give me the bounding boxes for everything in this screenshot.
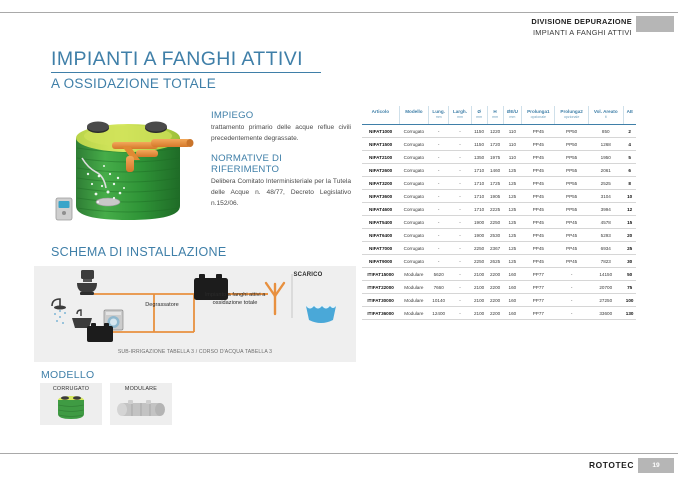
cell-ae: 50	[623, 268, 636, 281]
table-row: NIFAT6400Corrugato--19002530125PP45PP455…	[362, 229, 636, 242]
model-card-modulare: MODULARE	[110, 383, 172, 425]
cell-lung: -	[429, 177, 449, 190]
cell-ae: 30	[623, 255, 636, 268]
cell-h: 1460	[487, 164, 503, 177]
cell-articolo: NIFAT2100	[362, 151, 399, 164]
cell-h: 2200	[487, 268, 503, 281]
cell-p2: -	[555, 307, 588, 320]
table-row: NIFAT2100Corrugato--13501975110PP45PP551…	[362, 151, 636, 164]
schema-caption: SUB-IRRIGAZIONE TABELLA 3 / CORSO D'ACQU…	[34, 349, 356, 355]
water-body-icon	[306, 306, 336, 323]
cell-h: 1725	[487, 177, 503, 190]
cell-h: 2250	[487, 216, 503, 229]
cell-articolo: NIFAT2600	[362, 164, 399, 177]
cell-modello: Modulare	[399, 294, 428, 307]
cell-lung: 7660	[429, 281, 449, 294]
cell-diam: 1710	[471, 177, 487, 190]
cell-largh: -	[449, 138, 471, 151]
header-text-group: DIVISIONE DEPURAZIONE IMPIANTI A FANGHI …	[531, 17, 632, 37]
cell-vol: 1950	[588, 151, 623, 164]
cell-lung: 10140	[429, 294, 449, 307]
cell-articolo: ITIFAT36000	[362, 307, 399, 320]
header-subtitle-label: IMPIANTI A FANGHI ATTIVI	[531, 28, 632, 37]
cell-ae: 6	[623, 164, 636, 177]
cell-vol: 3104	[588, 190, 623, 203]
cell-diam: 2250	[471, 242, 487, 255]
cell-modello: Corrugato	[399, 255, 428, 268]
table-row: NIFAT3600Corrugato--17101905125PP45PP553…	[362, 190, 636, 203]
cell-p2: PP55	[555, 151, 588, 164]
cell-ae: 4	[623, 138, 636, 151]
cell-eu: 125	[503, 216, 522, 229]
cell-eu: 125	[503, 229, 522, 242]
cell-eu: 160	[503, 307, 522, 320]
footer-brand-label: ROTOTEC	[589, 460, 634, 470]
cell-eu: 125	[503, 203, 522, 216]
table-row: NIFAT9000Corrugato--22502625125PP45PP457…	[362, 255, 636, 268]
normative-heading: NORMATIVE DI RIFERIMENTO	[211, 153, 351, 175]
cell-modello: Corrugato	[399, 164, 428, 177]
cell-modello: Modulare	[399, 281, 428, 294]
table-row: ITIFAT36000Modulare12400-21002200160PP77…	[362, 307, 636, 320]
table-row: ITIFAT15000Modulare5620-21002200160PP77-…	[362, 268, 636, 281]
table-row: NIFAT2600Corrugato--17101460125PP45PP552…	[362, 164, 636, 177]
cell-largh: -	[449, 203, 471, 216]
cell-p1: PP45	[522, 151, 555, 164]
cell-p2: PP45	[555, 242, 588, 255]
cell-vol: 2525	[588, 177, 623, 190]
cell-modello: Corrugato	[399, 216, 428, 229]
cell-eu: 160	[503, 268, 522, 281]
cell-p2: PP45	[555, 216, 588, 229]
cell-p2: PP55	[555, 177, 588, 190]
cell-modello: Corrugato	[399, 203, 428, 216]
schema-label-degrassatore: Degrassatore	[134, 301, 190, 309]
cell-eu: 110	[503, 151, 522, 164]
cell-p2: PP45	[555, 229, 588, 242]
table-body: NIFAT1000Corrugato--11501220110PP45PP508…	[362, 125, 636, 320]
cell-largh: -	[449, 177, 471, 190]
cell-p2: PP55	[555, 190, 588, 203]
schema-section-title: SCHEMA DI INSTALLAZIONE	[51, 245, 226, 259]
cell-lung: -	[429, 242, 449, 255]
cell-eu: 125	[503, 255, 522, 268]
cell-h: 2625	[487, 255, 503, 268]
cell-largh: -	[449, 294, 471, 307]
cell-p1: PP45	[522, 229, 555, 242]
cell-p2: PP55	[555, 164, 588, 177]
cell-largh: -	[449, 216, 471, 229]
page-title-block: IMPIANTI A FANGHI ATTIVI A OSSIDAZIONE T…	[51, 48, 321, 91]
cell-ae: 25	[623, 242, 636, 255]
cell-eu: 125	[503, 242, 522, 255]
table-row: ITIFAT30000Modulare10140-21002200160PP77…	[362, 294, 636, 307]
cell-diam: 2100	[471, 307, 487, 320]
cell-lung: 12400	[429, 307, 449, 320]
modular-tank-icon	[110, 392, 172, 422]
cell-p1: PP77	[522, 307, 555, 320]
header-color-swatch	[636, 16, 674, 32]
col-larghezza: Largh.mm	[449, 106, 471, 125]
header-division-label: DIVISIONE DEPURAZIONE	[531, 17, 632, 26]
cell-vol: 33600	[588, 307, 623, 320]
document-header: DIVISIONE DEPURAZIONE IMPIANTI A FANGHI …	[0, 12, 678, 38]
cell-largh: -	[449, 229, 471, 242]
cell-articolo: ITIFAT22000	[362, 281, 399, 294]
cell-vol: 1268	[588, 138, 623, 151]
cell-vol: 3994	[588, 203, 623, 216]
cell-lung: -	[429, 255, 449, 268]
cell-articolo: NIFAT3600	[362, 190, 399, 203]
page-title: IMPIANTI A FANGHI ATTIVI	[51, 48, 321, 71]
cell-articolo: NIFAT3200	[362, 177, 399, 190]
impiego-heading: IMPIEGO	[211, 110, 351, 121]
model-card-modulare-label: MODULARE	[110, 383, 172, 392]
col-articolo: Articolo	[362, 106, 399, 125]
impiego-body: trattamento primario delle acque reflue …	[211, 123, 351, 144]
model-card-corrugato-label: CORRUGATO	[40, 383, 102, 392]
cell-eu: 125	[503, 190, 522, 203]
cell-lung: -	[429, 138, 449, 151]
cell-articolo: ITIFAT15000	[362, 268, 399, 281]
cell-diam: 1150	[471, 125, 487, 138]
col-altezza: Hmm	[487, 106, 503, 125]
cell-diam: 1900	[471, 229, 487, 242]
col-prolunga1: Prolunga1opzionale	[522, 106, 555, 125]
cell-lung: -	[429, 190, 449, 203]
cell-diam: 1710	[471, 203, 487, 216]
cell-largh: -	[449, 164, 471, 177]
cell-p1: PP45	[522, 138, 555, 151]
cell-largh: -	[449, 242, 471, 255]
installation-schematic-svg	[34, 266, 356, 362]
cell-articolo: NIFAT5400	[362, 216, 399, 229]
shower-icon	[52, 299, 66, 324]
cell-vol: 6934	[588, 242, 623, 255]
table-row: NIFAT4600Corrugato--17102225125PP45PP553…	[362, 203, 636, 216]
cell-h: 2225	[487, 203, 503, 216]
cell-h: 2530	[487, 229, 503, 242]
cell-modello: Corrugato	[399, 138, 428, 151]
cell-p1: PP45	[522, 255, 555, 268]
cell-diam: 1150	[471, 138, 487, 151]
cell-modello: Modulare	[399, 268, 428, 281]
col-diametro: Ømm	[471, 106, 487, 125]
cell-largh: -	[449, 190, 471, 203]
cell-largh: -	[449, 281, 471, 294]
cell-lung: -	[429, 125, 449, 138]
modello-section-title: MODELLO	[41, 369, 94, 381]
cell-ae: 8	[623, 177, 636, 190]
table-row: NIFAT1500Corrugato--11501720110PP45PP501…	[362, 138, 636, 151]
cell-h: 2200	[487, 294, 503, 307]
cell-h: 1220	[487, 125, 503, 138]
cell-vol: 4578	[588, 216, 623, 229]
cell-diam: 2100	[471, 294, 487, 307]
cell-diam: 2250	[471, 255, 487, 268]
cell-articolo: NIFAT1500	[362, 138, 399, 151]
page-subtitle: A OSSIDAZIONE TOTALE	[51, 76, 321, 91]
cell-diam: 1900	[471, 216, 487, 229]
cell-p1: PP77	[522, 281, 555, 294]
cell-vol: 14150	[588, 268, 623, 281]
cell-eu: 125	[503, 177, 522, 190]
cell-h: 2200	[487, 281, 503, 294]
cell-vol: 27250	[588, 294, 623, 307]
cell-p2: PP50	[555, 138, 588, 151]
cell-ae: 2	[623, 125, 636, 138]
cell-h: 2200	[487, 307, 503, 320]
cell-articolo: NIFAT1000	[362, 125, 399, 138]
cell-p1: PP45	[522, 177, 555, 190]
description-column: IMPIEGO trattamento primario delle acque…	[211, 110, 351, 218]
table-row: NIFAT3200Corrugato--17101725125PP45PP552…	[362, 177, 636, 190]
cell-h: 1905	[487, 190, 503, 203]
cell-articolo: ITIFAT30000	[362, 294, 399, 307]
cell-p1: PP45	[522, 216, 555, 229]
cell-p1: PP77	[522, 294, 555, 307]
cell-diam: 2100	[471, 281, 487, 294]
cell-p1: PP45	[522, 164, 555, 177]
product-illustration	[52, 98, 204, 230]
cell-p1: PP45	[522, 203, 555, 216]
cell-h: 1720	[487, 138, 503, 151]
cell-lung: -	[429, 203, 449, 216]
col-diametro-entrata-uscita: ØE/Umm	[503, 106, 522, 125]
cell-lung: -	[429, 216, 449, 229]
cell-p1: PP45	[522, 125, 555, 138]
corrugated-tank-icon	[40, 392, 102, 422]
cell-lung: -	[429, 229, 449, 242]
cell-modello: Corrugato	[399, 125, 428, 138]
cell-eu: 125	[503, 164, 522, 177]
cell-p1: PP45	[522, 190, 555, 203]
cell-modello: Corrugato	[399, 190, 428, 203]
cell-vol: 850	[588, 125, 623, 138]
cell-ae: 20	[623, 229, 636, 242]
cell-largh: -	[449, 307, 471, 320]
cell-lung: -	[429, 151, 449, 164]
cell-articolo: NIFAT9000	[362, 255, 399, 268]
cell-ae: 5	[623, 151, 636, 164]
schema-panel	[34, 266, 356, 362]
tank-illustration-svg	[52, 98, 204, 230]
table-header-row: Articolo Modello Lung.mm Largh.mm Ømm Hm…	[362, 106, 636, 125]
cell-h: 1975	[487, 151, 503, 164]
footer-page-number: 19	[638, 458, 674, 473]
cell-ae: 12	[623, 203, 636, 216]
cell-h: 2367	[487, 242, 503, 255]
cell-largh: -	[449, 125, 471, 138]
cell-vol: 2061	[588, 164, 623, 177]
control-box	[56, 198, 72, 220]
table-row: NIFAT7000Corrugato--22502367125PP45PP456…	[362, 242, 636, 255]
cell-p1: PP45	[522, 242, 555, 255]
cell-articolo: NIFAT6400	[362, 229, 399, 242]
cell-eu: 110	[503, 125, 522, 138]
cell-modello: Corrugato	[399, 242, 428, 255]
cell-largh: -	[449, 268, 471, 281]
cell-ae: 100	[623, 294, 636, 307]
cell-vol: 20700	[588, 281, 623, 294]
schema-label-impianto: Impianto a fanghi attivi a ossidazione t…	[196, 291, 274, 308]
cell-largh: -	[449, 255, 471, 268]
cell-lung: -	[429, 164, 449, 177]
col-prolunga2: Prolunga2opzionale	[555, 106, 588, 125]
cell-p2: PP55	[555, 203, 588, 216]
cell-p2: PP50	[555, 125, 588, 138]
cell-p2: -	[555, 268, 588, 281]
cell-modello: Corrugato	[399, 229, 428, 242]
cell-ae: 130	[623, 307, 636, 320]
table-row: NIFAT1000Corrugato--11501220110PP45PP508…	[362, 125, 636, 138]
cell-articolo: NIFAT4600	[362, 203, 399, 216]
cell-diam: 1710	[471, 190, 487, 203]
title-underline	[51, 72, 321, 73]
sink-icon	[72, 310, 92, 328]
cell-ae: 15	[623, 216, 636, 229]
cell-eu: 110	[503, 138, 522, 151]
col-modello: Modello	[399, 106, 428, 125]
cell-modello: Corrugato	[399, 151, 428, 164]
col-lunghezza: Lung.mm	[429, 106, 449, 125]
footer-divider	[0, 453, 678, 454]
cell-p2: -	[555, 294, 588, 307]
cell-ae: 10	[623, 190, 636, 203]
cell-largh: -	[449, 151, 471, 164]
cell-eu: 160	[503, 294, 522, 307]
cell-articolo: NIFAT7000	[362, 242, 399, 255]
normative-body: Delibera Comitato Interministeriale per …	[211, 177, 351, 209]
table-row: NIFAT5400Corrugato--19002250125PP45PP454…	[362, 216, 636, 229]
cell-modello: Modulare	[399, 307, 428, 320]
cell-p1: PP77	[522, 268, 555, 281]
cell-lung: 5620	[429, 268, 449, 281]
cell-diam: 1350	[471, 151, 487, 164]
cell-diam: 2100	[471, 268, 487, 281]
specifications-table: Articolo Modello Lung.mm Largh.mm Ømm Hm…	[362, 106, 636, 320]
col-ae: AE	[623, 106, 636, 125]
header-divider	[0, 12, 678, 13]
cell-ae: 75	[623, 281, 636, 294]
cell-modello: Corrugato	[399, 177, 428, 190]
cell-vol: 7823	[588, 255, 623, 268]
schema-label-scarico: SCARICO	[286, 271, 330, 280]
col-volume-areato: Vol. Areatolt	[588, 106, 623, 125]
model-card-corrugato: CORRUGATO	[40, 383, 102, 425]
cell-diam: 1710	[471, 164, 487, 177]
cell-eu: 160	[503, 281, 522, 294]
toilet-icon	[77, 270, 97, 295]
cell-p2: -	[555, 281, 588, 294]
cell-p2: PP45	[555, 255, 588, 268]
cell-vol: 5293	[588, 229, 623, 242]
table-row: ITIFAT22000Modulare7660-21002200160PP77-…	[362, 281, 636, 294]
